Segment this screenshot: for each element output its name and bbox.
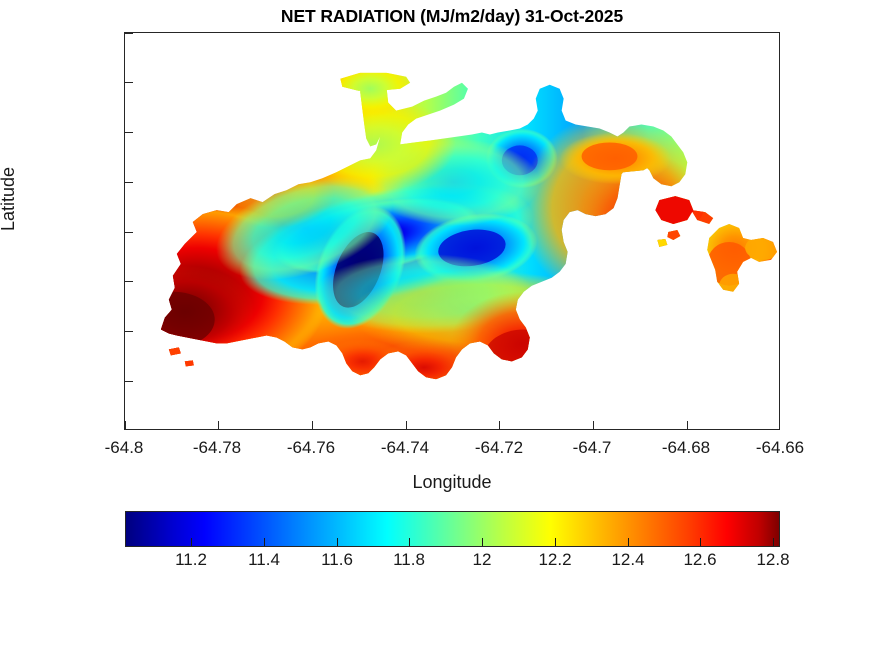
colorbar[interactable] [125,511,780,547]
xtick-label: -64.76 [287,438,335,458]
colorbar-tickmark [482,538,483,546]
colorbar-tickmark [191,538,192,546]
y-tickmark [125,381,133,382]
xtick-label: -64.7 [573,438,612,458]
x-tickmark [312,421,313,429]
xtick-label: -64.74 [381,438,429,458]
colorbar-tickmark [555,538,556,546]
colorbar-label: 11.2 [175,550,207,570]
xtick-label: -64.8 [105,438,144,458]
colorbar-label: 12 [473,550,492,570]
colorbar-label: 11.8 [393,550,425,570]
xtick-label: -64.66 [756,438,804,458]
x-tickmark [779,421,780,429]
x-tickmark [593,421,594,429]
xtick-label: -64.68 [662,438,710,458]
y-tickmark [125,182,133,183]
colorbar-label: 11.6 [321,550,353,570]
colorbar-tickmark [264,538,265,546]
x-tickmark [218,421,219,429]
colorbar-tickmark [337,538,338,546]
colorbar-tickmark [700,538,701,546]
x-tickmark [406,421,407,429]
colorbar-label: 12.2 [538,550,571,570]
chart-title: NET RADIATION (MJ/m2/day) 31-Oct-2025 [124,6,780,27]
colorbar-tickmark [628,538,629,546]
x-tickmark [125,421,126,429]
colorbar-gradient [125,511,780,547]
x-tickmark [499,421,500,429]
y-tickmark [125,232,133,233]
y-axis-label: Latitude [0,167,19,231]
colorbar-tickmark [409,538,410,546]
contour-field [125,33,779,429]
xtick-label: -64.78 [193,438,241,458]
y-tickmark [125,33,133,34]
colorbar-label: 11.4 [248,550,280,570]
y-tickmark [125,429,133,430]
colorbar-label: 12.4 [611,550,644,570]
xtick-label: -64.72 [475,438,523,458]
colorbar-label: 12.6 [683,550,716,570]
colorbar-tickmark [773,538,774,546]
y-tickmark [125,82,133,83]
x-axis-label: Longitude [124,472,780,493]
colorbar-label: 12.8 [756,550,789,570]
net-radiation-contour-map [125,33,779,429]
y-tickmark [125,331,133,332]
figure-canvas: NET RADIATION (MJ/m2/day) 31-Oct-2025 18… [0,0,875,656]
plot-axes [124,32,780,430]
y-tickmark [125,132,133,133]
x-tickmark [687,421,688,429]
y-tickmark [125,281,133,282]
